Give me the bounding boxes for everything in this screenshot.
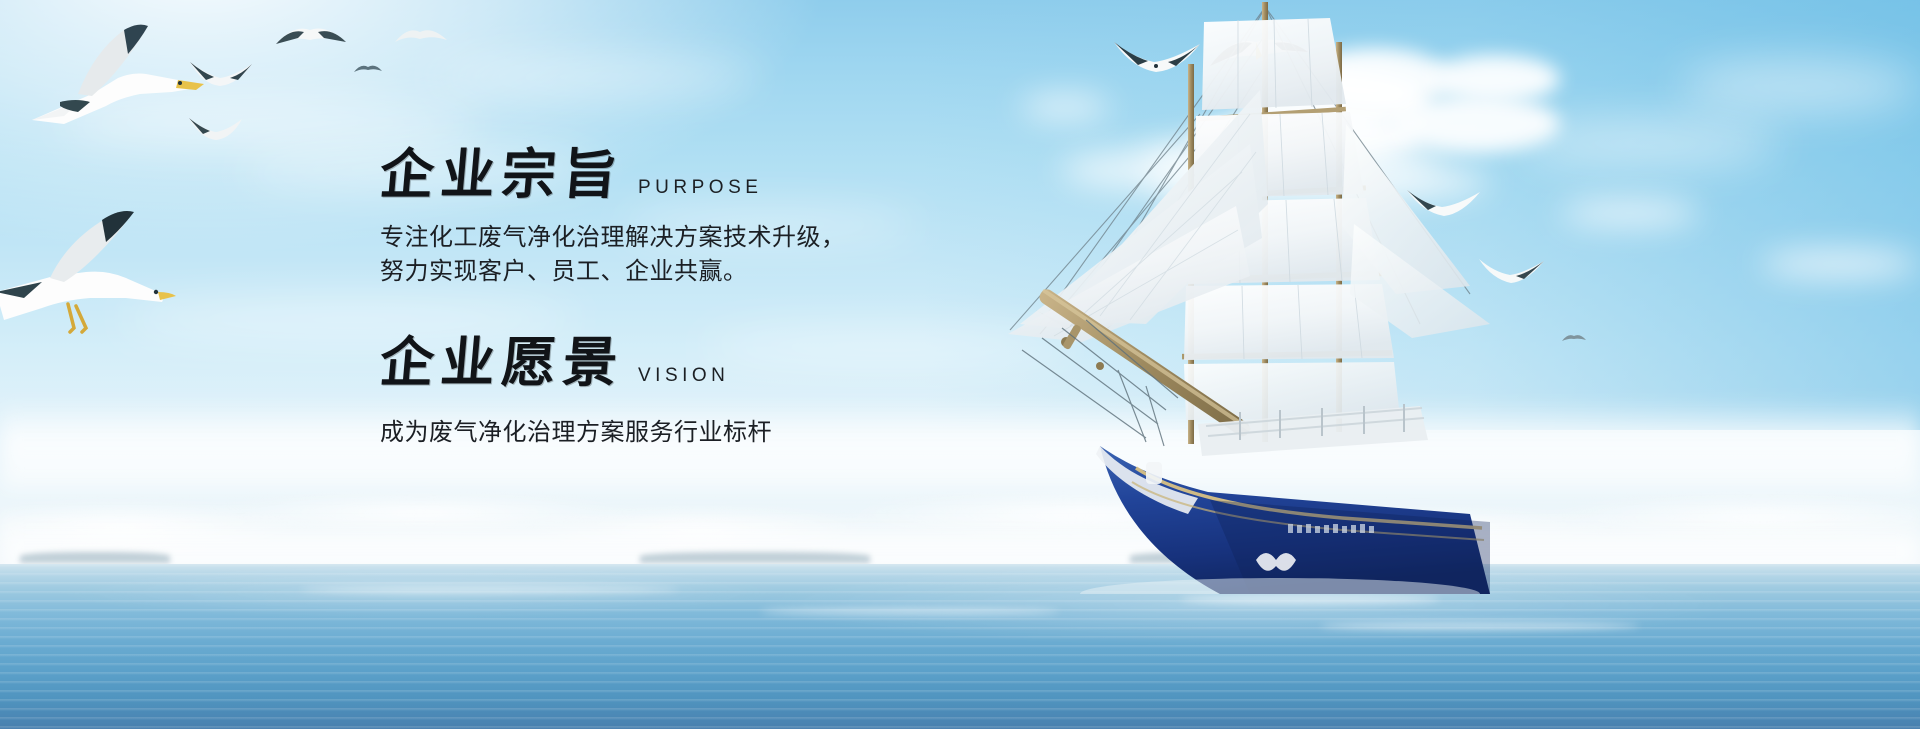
purpose-description: 专注化工废气净化治理解决方案技术升级， 努力实现客户、员工、企业共赢。 [380, 220, 1000, 288]
vision-description: 成为废气净化治理方案服务行业标杆 [380, 412, 1000, 447]
purpose-heading-row: 企业宗旨 PURPOSE [380, 148, 1000, 202]
cloud-wisp-3 [430, 60, 760, 94]
purpose-line-1: 专注化工废气净化治理解决方案技术升级， [380, 220, 1000, 254]
tall-ship [950, 0, 1510, 594]
sea-glint-2 [1320, 622, 1640, 630]
cloud-puff-10 [1680, 60, 1920, 112]
purpose-line-2: 努力实现客户、员工、企业共赢。 [380, 254, 1000, 288]
vision-title-en: VISION [638, 366, 729, 390]
seagull-large-upper-left [20, 16, 210, 136]
section-divider-gap [380, 288, 1000, 336]
vision-heading-row: 企业愿景 VISION [380, 336, 1000, 390]
sea-glint-1 [1180, 594, 1440, 604]
seagull-tiny-left [352, 60, 384, 78]
purpose-title-cn: 企业宗旨 [378, 148, 627, 202]
sea-glint-3 [300, 586, 680, 593]
seagull-tiny-right [1560, 330, 1588, 346]
cloud-small-3 [1760, 250, 1920, 278]
cloud-small-2 [1560, 200, 1700, 226]
corporate-culture-banner: 企业宗旨 PURPOSE 专注化工废气净化治理解决方案技术升级， 努力实现客户、… [0, 0, 1920, 729]
seagull-large-lower-left [0, 200, 190, 350]
section-purpose: 企业宗旨 PURPOSE 专注化工废气净化治理解决方案技术升级， 努力实现客户、… [380, 148, 1000, 288]
distant-land-left [20, 552, 170, 563]
purpose-title-en: PURPOSE [638, 178, 762, 202]
section-vision: 企业愿景 VISION 成为废气净化治理方案服务行业标杆 [380, 336, 1000, 447]
seagull-small-left-b [186, 110, 246, 148]
banner-copy: 企业宗旨 PURPOSE 专注化工废气净化治理解决方案技术升级， 努力实现客户、… [380, 148, 1000, 447]
vision-title-cn: 企业愿景 [378, 336, 627, 390]
sea-glint-4 [760, 608, 1060, 615]
cloud-puff-9 [1520, 120, 1780, 166]
seagull-small-left-a [186, 52, 258, 96]
seagull-small-top-a [272, 16, 350, 56]
distant-land-mid [640, 552, 870, 563]
seagull-small-top-b [392, 22, 450, 52]
